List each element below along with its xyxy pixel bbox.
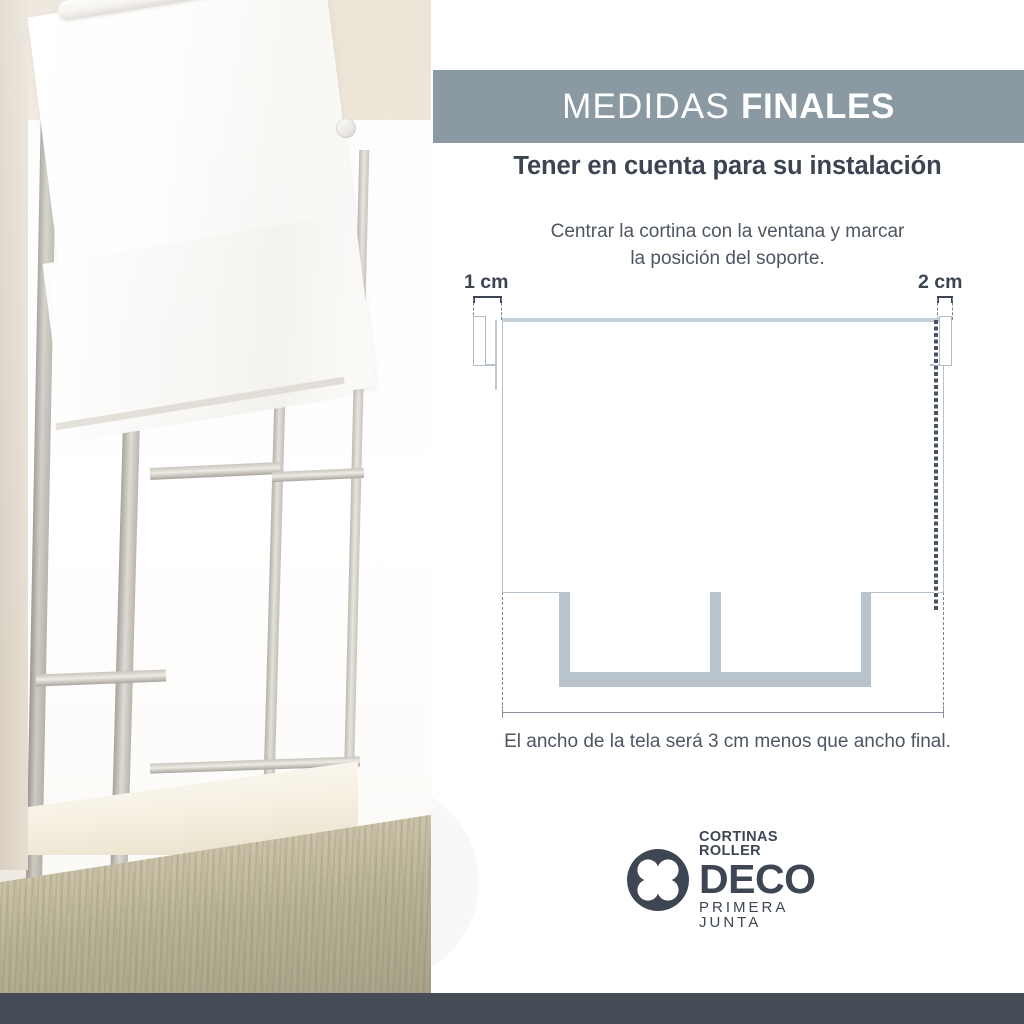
logo-top-text: CORTINAS ROLLER bbox=[699, 830, 832, 859]
guide-line-width-left bbox=[502, 592, 503, 710]
total-width-dimension-line bbox=[502, 712, 944, 713]
watermark-logo-icon bbox=[431, 782, 521, 982]
deco-flower-logo-icon bbox=[627, 849, 689, 911]
guide-line-left-inner bbox=[501, 298, 502, 320]
guide-line-right-outer bbox=[952, 298, 953, 320]
dimension-tick-bar-left bbox=[473, 296, 502, 298]
guide-line-width-right bbox=[943, 592, 944, 710]
photo-wall-left bbox=[0, 0, 28, 870]
logo-main-text: DECO bbox=[699, 860, 832, 899]
bracket-icon-right bbox=[939, 316, 952, 366]
content-panel: MEDIDAS FINALES Tener en cuenta para su … bbox=[431, 0, 1024, 993]
bracket-icon-left bbox=[473, 316, 486, 366]
logo-sub-text: PRIMERA JUNTA bbox=[699, 900, 832, 930]
window-pane-right bbox=[721, 592, 861, 672]
installation-diagram: El ancho de la tela será 3 cm menos que … bbox=[431, 0, 1024, 760]
roller-blind-top-rail bbox=[502, 318, 944, 322]
window-pane-left bbox=[570, 592, 710, 672]
footer-bar bbox=[0, 993, 1024, 1024]
installation-photo bbox=[0, 0, 431, 993]
logo-text-block: CORTINAS ROLLER DECO PRIMERA JUNTA bbox=[699, 830, 832, 931]
brand-logo: CORTINAS ROLLER DECO PRIMERA JUNTA bbox=[627, 845, 832, 915]
guide-line-right-inner bbox=[937, 298, 938, 320]
bead-chain-icon bbox=[934, 320, 938, 610]
bracket-stem-left bbox=[495, 320, 497, 390]
fabric-width-note: El ancho de la tela será 3 cm menos que … bbox=[431, 731, 1024, 753]
window-frame-icon bbox=[559, 592, 871, 687]
total-width-cap-right bbox=[943, 706, 944, 718]
total-width-cap-left bbox=[502, 706, 503, 718]
roller-blind-icon bbox=[502, 318, 944, 593]
bracket-arm-left bbox=[485, 364, 495, 366]
photo-roller-endcap bbox=[336, 118, 356, 138]
